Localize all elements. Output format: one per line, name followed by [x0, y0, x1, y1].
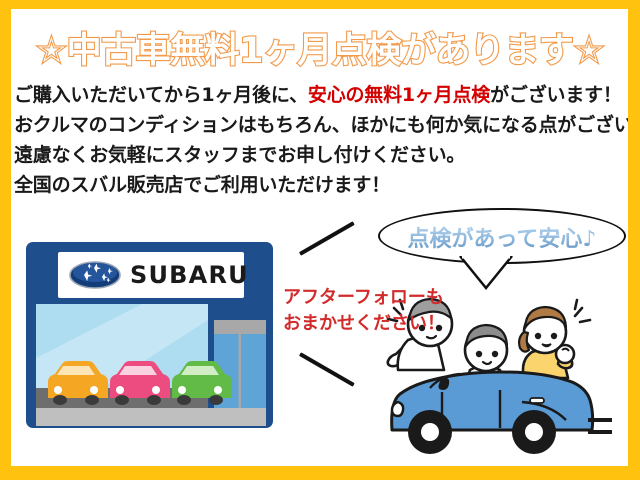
frame-border-right: [628, 0, 640, 480]
body-line-3: 遠慮なくお気軽にスタッフまでお申し付けください。: [14, 140, 626, 170]
entrance-door-divider: [239, 334, 242, 414]
callout-line-1: アフターフォローも: [283, 285, 445, 311]
speech-bubble-tail: [456, 256, 516, 290]
after-follow-callout: アフターフォローも おまかせください！: [283, 285, 445, 337]
body-line-4: 全国のスバル販売店でご利用いただけます！: [14, 170, 626, 200]
frame-border-top: [0, 0, 640, 9]
body-copy: ご購入いただいてから1ヶ月後に、安心の無料1ヶ月点検がございます！ おクルマのコ…: [14, 80, 626, 200]
subaru-wordmark: SUBARU: [130, 261, 249, 289]
family-car: [392, 372, 593, 454]
speech-bubble: 点検があって安心♪: [378, 208, 628, 266]
page-title: ☆中古車無料1ヶ月点検があります☆: [0, 22, 640, 73]
arrow-bracket-lower-line: [299, 352, 355, 386]
callout-line-2: おまかせください！: [283, 311, 445, 337]
frame-border-left: [0, 0, 11, 480]
body-line-1-seg-1: ご購入いただいてから1ヶ月後に、: [14, 84, 308, 106]
page-title-text: ☆中古車無料1ヶ月点検があります☆: [36, 22, 605, 73]
sidewalk: [36, 408, 266, 426]
body-line-1-seg-3: がございます！: [490, 84, 622, 106]
promo-banner: ☆中古車無料1ヶ月点検があります☆ ご購入いただいてから1ヶ月後に、安心の無料1…: [0, 0, 640, 480]
person-mother: [519, 300, 590, 378]
speech-bubble-text: 点検があって安心♪: [378, 221, 626, 253]
frame-border-bottom: [0, 466, 640, 480]
subaru-logo-icon: [70, 262, 120, 288]
dealership-illustration: SUBARU: [22, 238, 277, 436]
body-line-1: ご購入いただいてから1ヶ月後に、安心の無料1ヶ月点検がございます！: [14, 80, 626, 110]
body-line-2: おクルマのコンディションはもちろん、ほかにも何か気になる点がございましたら: [14, 110, 626, 140]
arrow-bracket-upper-line: [299, 221, 355, 255]
body-line-1-highlight: 安心の無料1ヶ月点検: [308, 84, 490, 106]
